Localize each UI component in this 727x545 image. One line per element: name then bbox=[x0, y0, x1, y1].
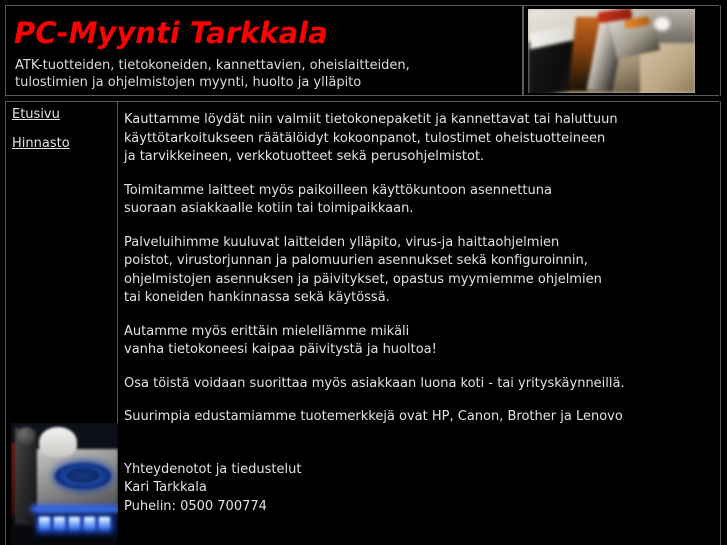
content-paragraph: Palveluihimme kuuluvat laitteiden ylläpi… bbox=[124, 234, 721, 308]
header-hardware-photo bbox=[528, 9, 695, 93]
content-column: Kauttamme löydät niin valmiit tietokonep… bbox=[119, 102, 721, 545]
contact-block: Yhteydenotot ja tiedustelut Kari Tarkkal… bbox=[124, 461, 721, 517]
content-paragraph-brands: Suurimpia edustamiamme tuotemerkkejä ova… bbox=[124, 408, 721, 427]
page-root: PC-Myynti Tarkkala ATK-tuotteiden, tieto… bbox=[0, 0, 727, 545]
sidebar-item-etusivu[interactable]: Etusivu bbox=[12, 107, 60, 122]
sidebar: Etusivu Hinnasto bbox=[6, 102, 118, 545]
header-title-box: PC-Myynti Tarkkala ATK-tuotteiden, tieto… bbox=[5, 5, 523, 96]
content-paragraph: Kauttamme löydät niin valmiit tietokonep… bbox=[124, 111, 721, 167]
site-subtitle-line-1: ATK-tuotteiden, tietokoneiden, kannettav… bbox=[15, 58, 410, 73]
site-subtitle-line-2: tulostimien ja ohjelmistojen myynti, huo… bbox=[15, 75, 361, 90]
content-paragraph: Autamme myös erittäin mielellämme mikäli… bbox=[124, 323, 721, 360]
content-paragraph: Toimitamme laitteet myös paikoilleen käy… bbox=[124, 182, 721, 219]
header-photo-box bbox=[523, 5, 721, 96]
content-paragraph: Osa töistä voidaan suorittaa myös asiakk… bbox=[124, 375, 721, 394]
page-title: PC-Myynti Tarkkala bbox=[14, 17, 328, 49]
page-right-edge bbox=[719, 0, 720, 545]
sidebar-pc-case-photo bbox=[11, 423, 118, 545]
sidebar-item-hinnasto[interactable]: Hinnasto bbox=[12, 136, 70, 151]
main-content-frame: Etusivu Hinnasto bbox=[5, 101, 721, 545]
site-header: PC-Myynti Tarkkala ATK-tuotteiden, tieto… bbox=[5, 5, 721, 97]
